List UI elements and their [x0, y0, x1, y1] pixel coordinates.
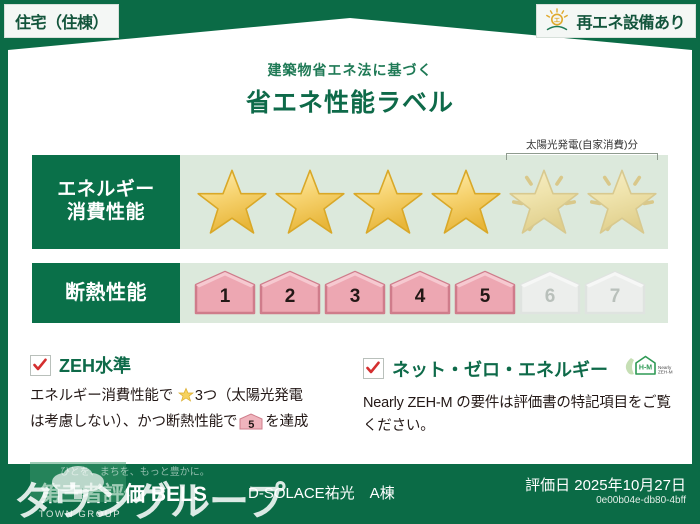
net-zero-heading: ネット・ゼロ・エネルギー H-M Nearly ZEH-M	[363, 352, 673, 385]
footer-bar: 第三者評価 BELS D-SOLACE祐光 A棟 評価日 2025年10月27日…	[0, 464, 700, 522]
insulation-grade-value: 7	[584, 286, 646, 308]
star-filled	[428, 166, 504, 238]
svg-text:ZEH-M: ZEH-M	[658, 370, 673, 375]
insulation-grade-6: 6	[519, 270, 581, 316]
svg-text:エ: エ	[554, 17, 560, 24]
star-solar	[584, 166, 660, 238]
inline-grade-value: 5	[239, 417, 263, 430]
svg-text:H-M: H-M	[639, 365, 652, 372]
renewable-equipment-badge: エ 再エネ設備あり	[536, 4, 696, 38]
insulation-grade-value: 1	[194, 286, 256, 308]
insulation-grade-list: 1234567	[180, 270, 668, 316]
insulation-grade-7: 7	[584, 270, 646, 316]
insulation-grade-value: 6	[519, 286, 581, 308]
renewable-equipment-label: 再エネ設備あり	[576, 9, 685, 33]
energy-label-card: 住宅（住棟） エ 再エネ設備あり 建築物省エネ法に基づく 省エネ性能ラベル	[0, 0, 700, 522]
insulation-grade-panel: 1234567	[180, 263, 668, 323]
energy-star-list	[180, 166, 668, 238]
solar-annotation: 太陽光発電(自家消費)分	[502, 137, 662, 160]
energy-label-line2: 消費性能	[67, 202, 145, 225]
evaluation-id: 0e00b04e-db80-4bff	[596, 495, 686, 506]
insulation-grade-1: 1	[194, 270, 256, 316]
insulation-grade-value: 2	[259, 286, 321, 308]
check-icon	[363, 358, 384, 379]
building-name: D-SOLACE祐光 A棟	[248, 482, 395, 503]
net-zero-title: ネット・ゼロ・エネルギー	[392, 356, 608, 382]
star-filled	[194, 166, 270, 238]
insulation-grade-5: 5	[454, 270, 516, 316]
energy-label-line1: エネルギー	[57, 179, 155, 202]
insulation-performance-row: 断熱性能 1234567	[32, 263, 668, 323]
star-solar	[506, 166, 582, 238]
bels-evaluation-label: 第三者評価 BELS	[40, 478, 207, 508]
insulation-grade-2: 2	[259, 270, 321, 316]
inline-grade-badge: 5	[239, 413, 263, 430]
insulation-grade-value: 4	[389, 286, 451, 308]
zeh-standard-heading: ZEH水準	[30, 352, 348, 378]
zeh-body-part3: を達成	[265, 414, 308, 430]
zeh-body-part1: エネルギー消費性能で	[30, 388, 173, 404]
inline-star-icon	[174, 391, 194, 407]
insulation-grade-4: 4	[389, 270, 451, 316]
title-main: 省エネ性能ラベル	[0, 83, 700, 119]
insulation-performance-label: 断熱性能	[32, 263, 180, 323]
star-filled	[350, 166, 426, 238]
insulation-grade-3: 3	[324, 270, 386, 316]
zeh-standard-note: ZEH水準 エネルギー消費性能で 3つ（太陽光発電 は考慮しない）、かつ断熱性能…	[30, 352, 348, 435]
page-title: 建築物省エネ法に基づく 省エネ性能ラベル	[0, 60, 700, 119]
title-subtitle: 建築物省エネ法に基づく	[0, 60, 700, 80]
insulation-grade-value: 5	[454, 286, 516, 308]
zeh-body-star-count: 3つ（太陽光発電	[195, 388, 303, 404]
energy-star-panel: 太陽光発電(自家消費)分	[180, 155, 668, 249]
dwelling-type-badge: 住宅（住棟）	[4, 4, 119, 38]
net-zero-energy-note: ネット・ゼロ・エネルギー H-M Nearly ZEH-M Nearly ZEH…	[363, 352, 673, 439]
check-icon	[30, 355, 51, 376]
zeh-standard-title: ZEH水準	[59, 352, 131, 378]
zeh-body-part2: は考慮しない）、かつ断熱性能で	[30, 414, 237, 430]
energy-performance-label: エネルギー 消費性能	[32, 155, 180, 249]
energy-performance-row: エネルギー 消費性能 太陽光発電(自家消費)分	[32, 155, 668, 249]
zeh-m-logo-icon: H-M Nearly ZEH-M	[620, 352, 674, 385]
dwelling-type-label: 住宅（住棟）	[15, 9, 108, 33]
solar-annotation-text: 太陽光発電(自家消費)分	[502, 137, 662, 152]
evaluation-date: 評価日 2025年10月27日	[525, 474, 686, 495]
insulation-grade-value: 3	[324, 286, 386, 308]
net-zero-body: Nearly ZEH-M の要件は評価書の特記項目をご覧ください。	[363, 392, 673, 439]
solar-bracket-icon	[506, 153, 658, 160]
solar-sun-icon: エ	[544, 8, 570, 34]
star-filled	[272, 166, 348, 238]
zeh-standard-body: エネルギー消費性能で 3つ（太陽光発電 は考慮しない）、かつ断熱性能で 5 を達…	[30, 385, 348, 435]
